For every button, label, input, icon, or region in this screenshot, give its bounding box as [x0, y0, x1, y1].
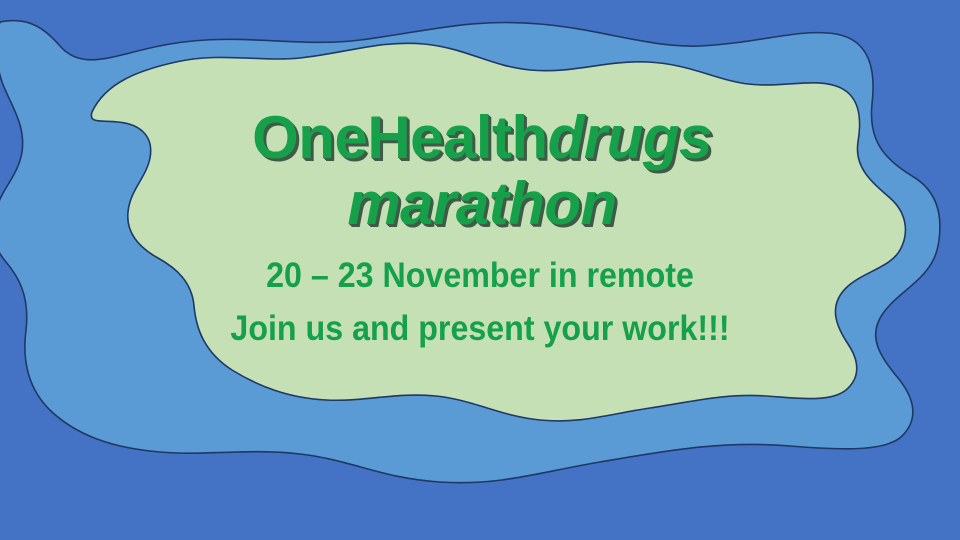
slide-content: OneHealthdrugs marathon 20 – 23 November… [0, 0, 960, 540]
subtitle-dates-line: 20 – 23 November in remote [38, 258, 921, 293]
slide-canvas: OneHealthdrugs marathon 20 – 23 November… [0, 0, 960, 540]
title-line-1: OneHealthdrugs [0, 108, 960, 168]
subtitle-callout-line: Join us and present your work!!! [38, 311, 921, 346]
subtitle-block: 20 – 23 November in remote Join us and p… [0, 258, 960, 346]
title-text-onehealth: OneHealth [252, 104, 548, 171]
title-text-drugs: drugs [548, 104, 712, 171]
title-text-marathon: marathon [0, 174, 960, 234]
title-block: OneHealthdrugs marathon [0, 108, 960, 234]
